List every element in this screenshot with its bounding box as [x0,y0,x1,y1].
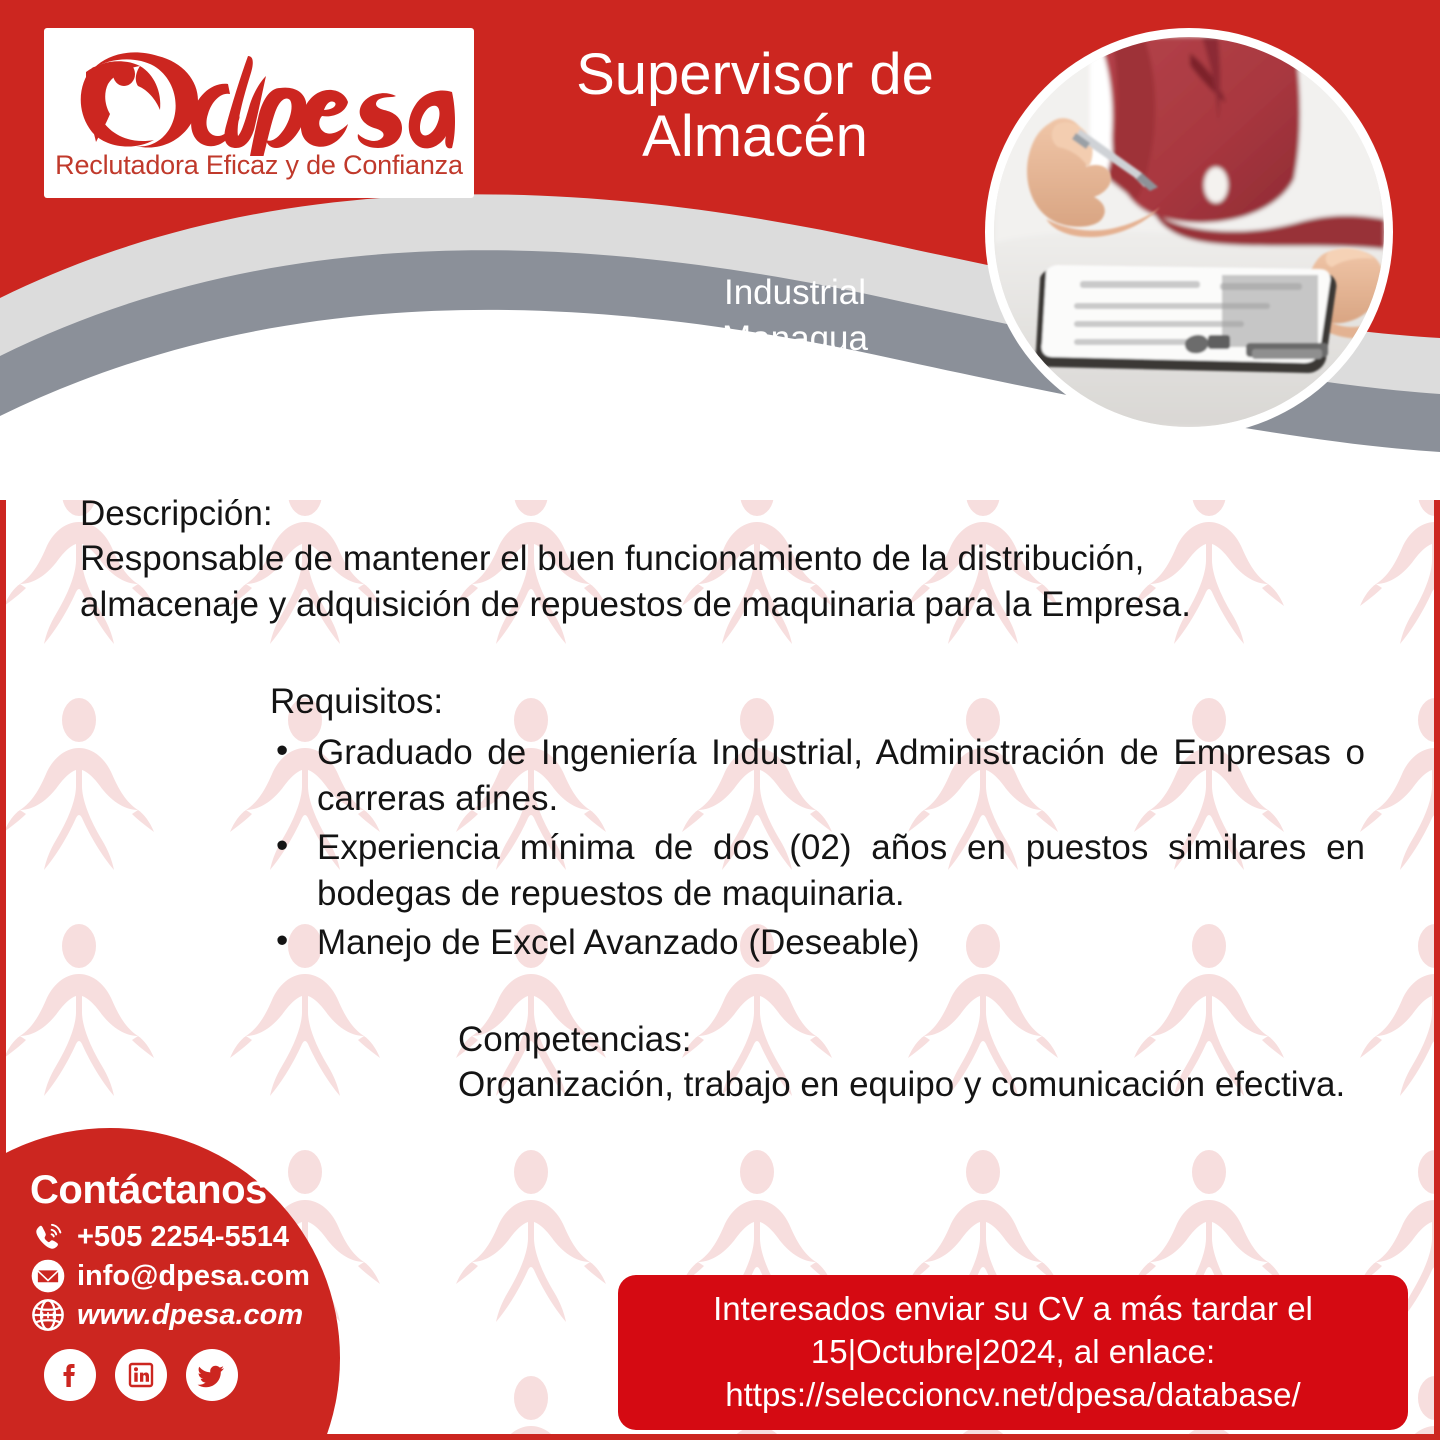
contact-email: info@dpesa.com [77,1260,310,1293]
cta-line-1: Interesados enviar su CV a más tardar el [713,1288,1313,1331]
header-photo [985,28,1393,436]
description-block: Descripción: Responsable de mantener el … [80,492,1365,628]
job-sector: Industrial [600,270,990,316]
email-icon [30,1258,66,1294]
requirements-block: Requisitos: Graduado de Ingeniería Indus… [270,680,1365,968]
job-location: Industrial Managua [600,270,990,361]
competencies-label: Competencias: [458,1018,1363,1062]
description-line1: Responsable de mantener el buen funciona… [80,536,1365,582]
social-links [44,1349,330,1401]
linkedin-link[interactable] [115,1349,167,1401]
interview-photo-illustration [994,37,1384,427]
facebook-icon [54,1359,86,1391]
requirements-list: Graduado de Ingeniería Industrial, Admin… [270,730,1365,967]
dpesa-logo-icon [62,48,457,156]
twitter-link[interactable] [186,1349,238,1401]
contact-website: www.dpesa.com [77,1299,303,1332]
facebook-link[interactable] [44,1349,96,1401]
cta-banner[interactable]: Interesados enviar su CV a más tardar el… [618,1275,1408,1430]
list-item: Graduado de Ingeniería Industrial, Admin… [270,730,1365,823]
contact-phone: +505 2254-5514 [77,1221,289,1254]
company-logo: Reclutadora Eficaz y de Confianza [44,28,474,198]
phone-icon [30,1219,66,1255]
globe-icon [30,1297,66,1333]
competencies-block: Competencias: Organización, trabajo en e… [458,1018,1363,1108]
cta-line-2: 15|Octubre|2024, al enlace: [811,1331,1215,1374]
description-label: Descripción: [80,492,1365,536]
contact-email-row[interactable]: info@dpesa.com [30,1258,330,1294]
job-poster: Reclutadora Eficaz y de Confianza Superv… [0,0,1440,1440]
list-item: Experiencia mínima de dos (02) años en p… [270,825,1365,918]
job-title-line2: Almacén [520,106,990,168]
header-photo-inner [994,37,1384,427]
contact-block: Contáctanos +505 2254-5514 info@dpesa.co… [30,1168,330,1401]
list-item: Manejo de Excel Avanzado (Deseable) [270,920,1365,967]
contact-phone-row[interactable]: +505 2254-5514 [30,1219,330,1255]
requirements-label: Requisitos: [270,680,1365,724]
competencies-text: Organización, trabajo en equipo y comuni… [458,1062,1363,1108]
linkedin-icon [125,1359,157,1391]
job-city: Managua [600,316,990,362]
description-line2: almacenaje y adquisición de repuestos de… [80,582,1365,628]
cta-link[interactable]: https://seleccioncv.net/dpesa/database/ [725,1374,1300,1417]
job-title: Supervisor de Almacén [520,44,990,168]
twitter-icon [196,1359,228,1391]
contact-title: Contáctanos [30,1168,330,1213]
logo-tagline: Reclutadora Eficaz y de Confianza [55,150,463,181]
contact-website-row[interactable]: www.dpesa.com [30,1297,330,1333]
job-title-line1: Supervisor de [520,44,990,106]
